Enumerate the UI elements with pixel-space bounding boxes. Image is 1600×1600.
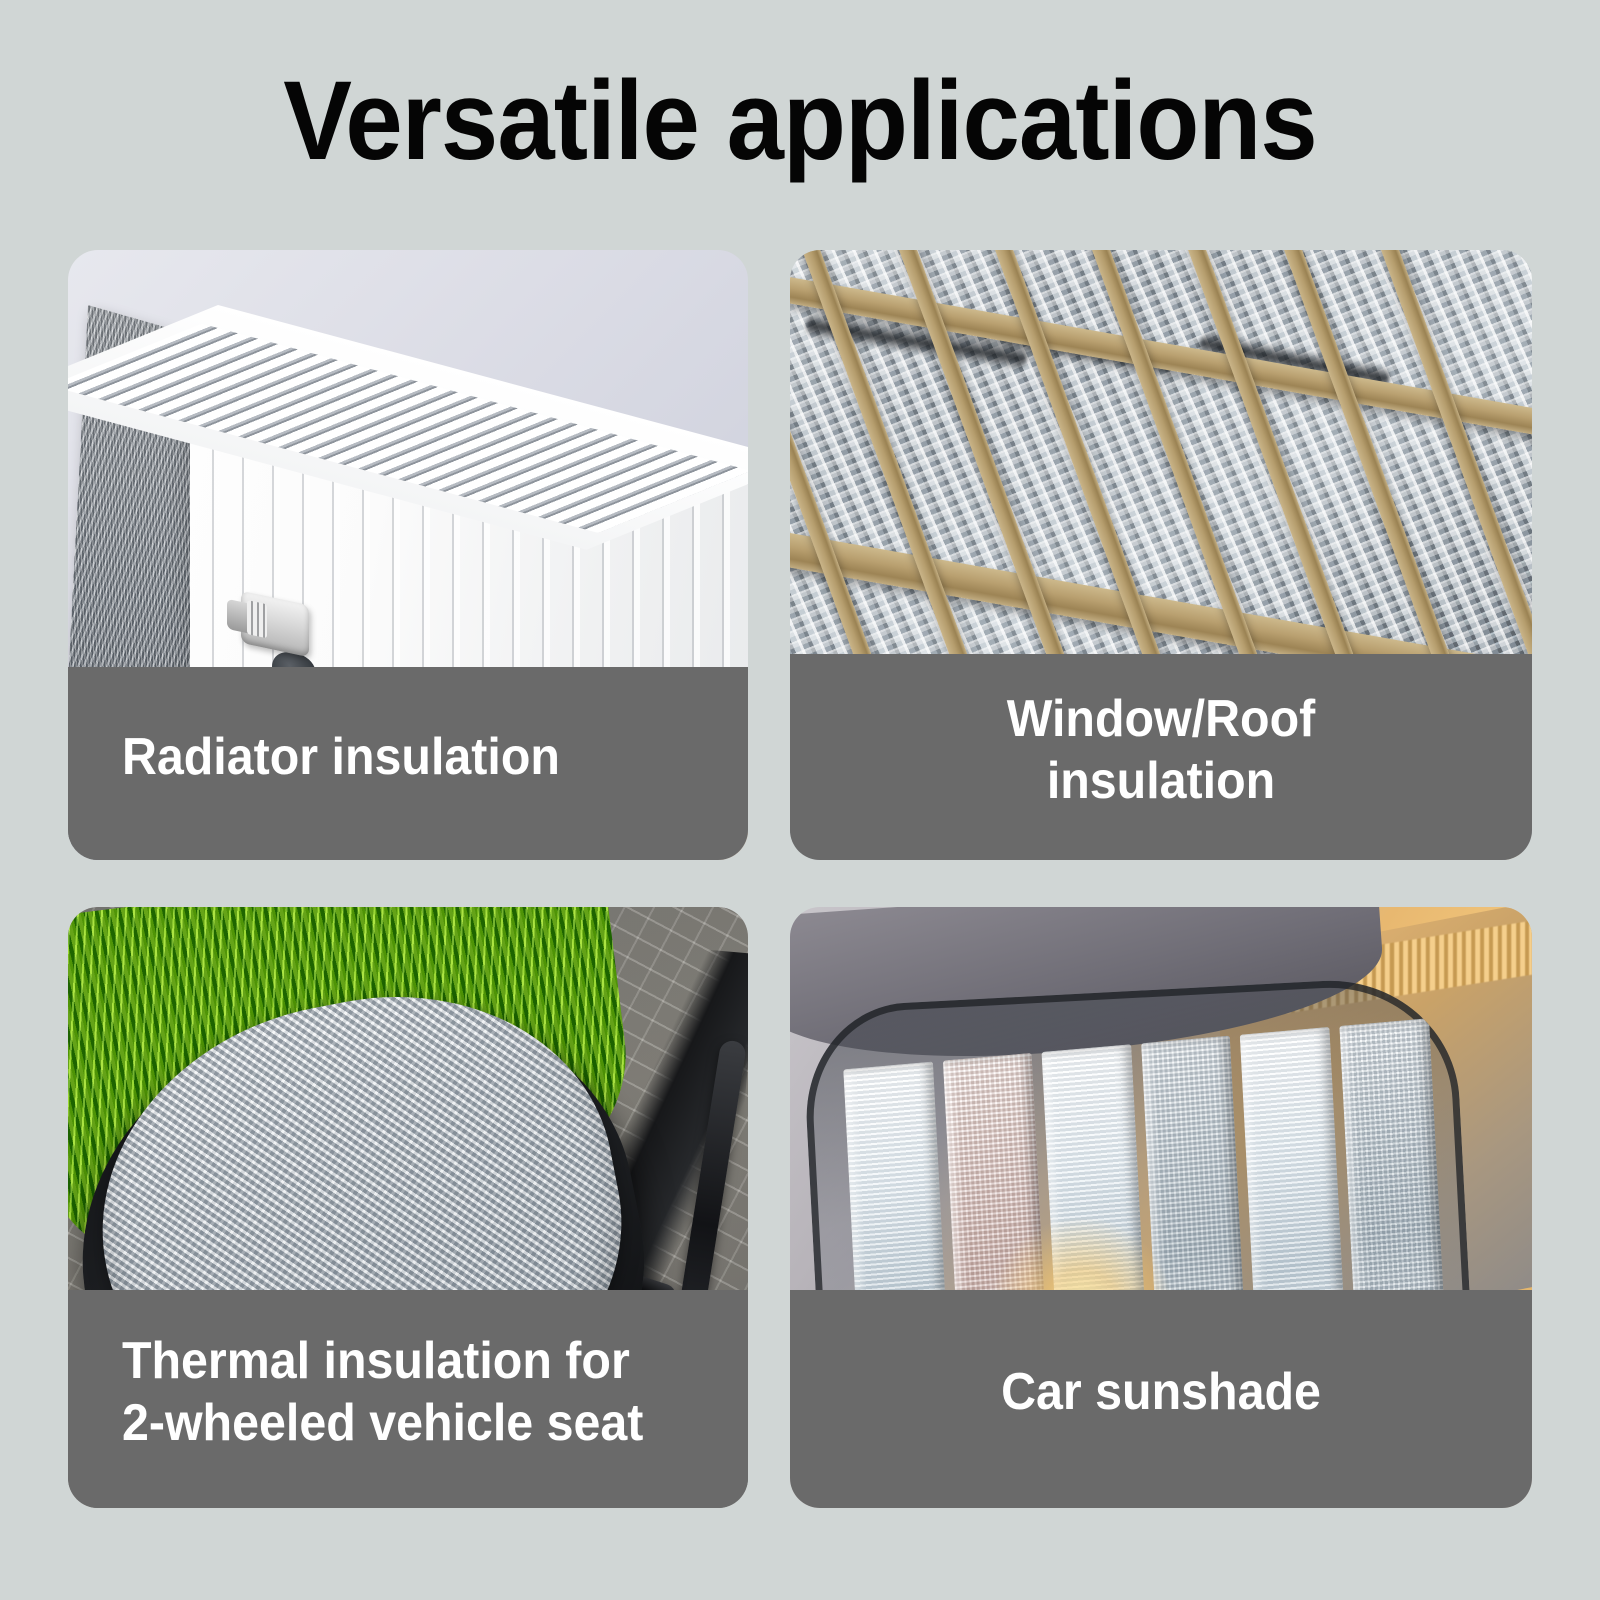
panel-radiator-insulation[interactable]: Radiator insulation: [68, 250, 748, 860]
panel-window-roof-insulation[interactable]: Window/Roof insulation: [790, 250, 1532, 860]
caption-bar-radiator: Radiator insulation: [68, 667, 748, 860]
panel-car-sunshade[interactable]: Car sunshade: [790, 907, 1532, 1508]
caption-text-vehicle-seat: Thermal insulation for 2-wheeled vehicle…: [68, 1330, 700, 1454]
caption-text-window-roof: Window/Roof insulation: [816, 688, 1506, 812]
caption-bar-window-roof: Window/Roof insulation: [790, 654, 1532, 860]
caption-text-radiator: Radiator insulation: [68, 726, 700, 788]
panel-two-wheeled-vehicle-seat[interactable]: Thermal insulation for 2-wheeled vehicle…: [68, 907, 748, 1508]
panel-grid: Radiator insulation W: [0, 0, 1600, 1600]
caption-bar-vehicle-seat: Thermal insulation for 2-wheeled vehicle…: [68, 1290, 748, 1508]
caption-text-car-sunshade: Car sunshade: [816, 1361, 1506, 1423]
caption-bar-car-sunshade: Car sunshade: [790, 1290, 1532, 1508]
